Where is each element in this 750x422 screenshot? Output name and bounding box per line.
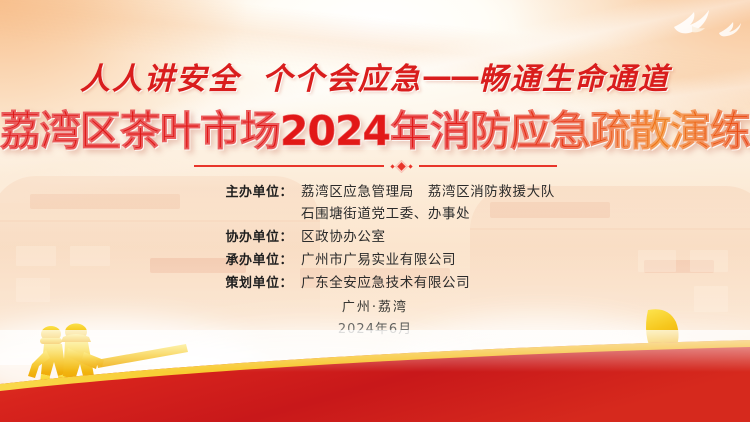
- organizer-value: 区政协办公室: [293, 225, 386, 245]
- divider-diamond: [395, 160, 408, 173]
- slogan-part-3: 畅通生命通道: [478, 54, 670, 98]
- dove-icon: [716, 20, 742, 38]
- divider: [0, 158, 750, 174]
- organizer-list: 主办单位： 荔湾区应急管理局 荔湾区消防救援大队 石围塘街道党工委、办事处 协办…: [0, 180, 750, 294]
- organizer-label: 协办单位：: [210, 226, 293, 245]
- organizer-row: 承办单位： 广州市广易实业有限公司: [210, 248, 540, 268]
- divider-dot: [408, 164, 412, 168]
- organizer-row: 协办单位： 区政协办公室: [210, 225, 540, 245]
- organizer-value: 广州市广易实业有限公司: [293, 248, 456, 268]
- red-band-shape: [0, 330, 750, 422]
- organizer-label: 承办单位：: [210, 249, 293, 268]
- divider-dot: [390, 164, 394, 168]
- fire-drill-poster: 人人讲安全 个个会应急 —— 畅通生命通道 荔湾区茶叶市场2024年消防应急疏散…: [0, 0, 750, 422]
- organizer-label: 主办单位：: [210, 181, 293, 200]
- slogan-part-2: 个个会应急: [262, 54, 422, 98]
- organizer-row: 策划单位： 广东全安应急技术有限公司: [210, 271, 540, 291]
- slogan-dash: ——: [422, 59, 478, 94]
- organizer-label: 策划单位：: [210, 272, 293, 291]
- dove-icon: [668, 6, 712, 36]
- poster-title: 荔湾区茶叶市场2024年消防应急疏散演练: [0, 99, 750, 155]
- bottom-red-band: [0, 330, 750, 422]
- organizer-value: 荔湾区应急管理局 荔湾区消防救援大队: [293, 180, 555, 200]
- organizer-value: 广东全安应急技术有限公司: [293, 271, 470, 291]
- organizer-row: 主办单位： 荔湾区应急管理局 荔湾区消防救援大队: [210, 180, 540, 200]
- divider-line-left: [194, 165, 384, 167]
- organizer-value: 石围塘街道党工委、办事处: [293, 202, 470, 222]
- slogan-part-1: 人人讲安全: [80, 54, 240, 98]
- diamond-ornament-icon: [391, 162, 412, 171]
- divider-line-right: [419, 165, 557, 167]
- slogan-calligraphy: 人人讲安全 个个会应急 —— 畅通生命通道: [0, 52, 750, 100]
- organizer-row: 石围塘街道党工委、办事处: [210, 202, 540, 222]
